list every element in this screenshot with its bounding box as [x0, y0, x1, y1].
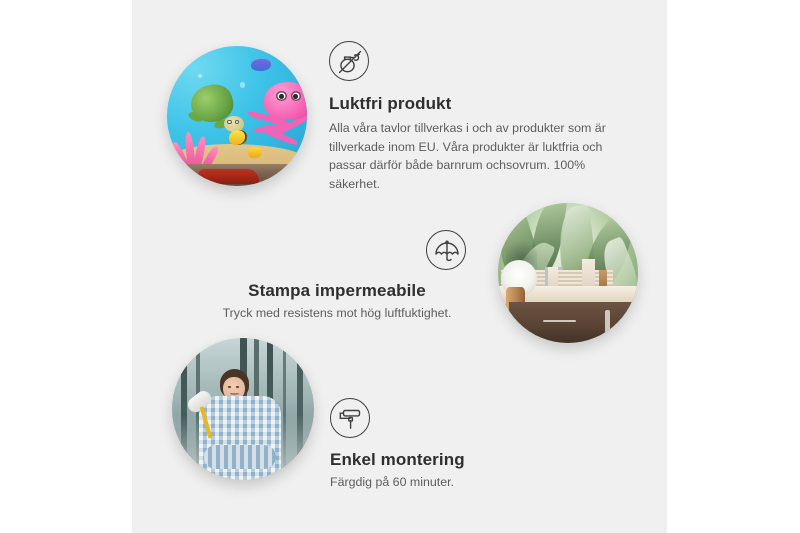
bathroom-artwork	[498, 203, 638, 343]
feature-waterproof-icon-wrap	[208, 230, 466, 275]
forest-artwork	[172, 338, 314, 480]
umbrella-icon	[426, 230, 466, 270]
held-paint-roller	[187, 394, 228, 438]
octopus-figure	[251, 82, 307, 146]
feature-mounting-title: Enkel montering	[330, 450, 580, 470]
feature-odour-icon-wrap	[329, 41, 613, 86]
image-ocean-nursery	[167, 46, 307, 186]
ocean-artwork	[167, 46, 307, 186]
no-fragrance-icon	[329, 41, 369, 81]
feature-odour-body: Alla våra tavlor tillverkas i och av pro…	[329, 119, 613, 193]
wooden-vanity-cabinet	[509, 302, 638, 343]
feature-easy-mounting: Enkel montering Färgdig på 60 minuter.	[330, 398, 580, 492]
feature-waterproof-body: Tryck med resistens mot hög luftfuktighe…	[208, 304, 466, 323]
image-forest-installer	[172, 338, 314, 480]
turtle-figure	[187, 85, 246, 133]
installer-person	[198, 369, 283, 480]
image-bathroom-tropical	[498, 203, 638, 343]
feature-odour-title: Luktfri produkt	[329, 94, 613, 114]
screenshot-stage: Luktfri produkt Alla våra tavlor tillver…	[0, 0, 800, 533]
paint-roller-icon	[330, 398, 370, 438]
feature-waterproof-title: Stampa impermeabile	[208, 281, 466, 301]
feature-mounting-icon-wrap	[330, 398, 580, 443]
fish-blue	[251, 59, 271, 72]
feature-waterproof: Stampa impermeabile Tryck med resistens …	[208, 230, 466, 323]
feature-odour-free: Luktfri produkt Alla våra tavlor tillver…	[329, 41, 613, 193]
feature-mounting-body: Färgdig på 60 minuter.	[330, 473, 580, 492]
nursery-furniture	[167, 164, 307, 186]
